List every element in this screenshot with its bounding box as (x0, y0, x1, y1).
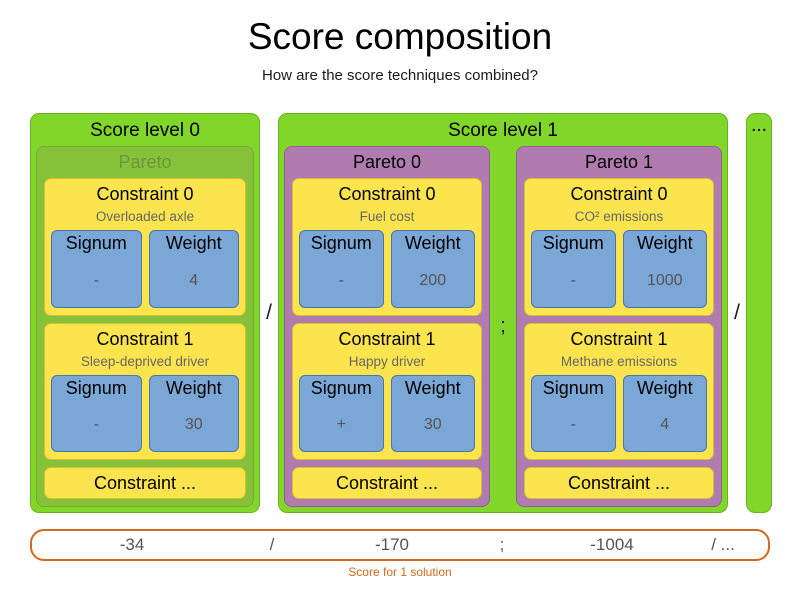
constraint-attributes: Signum - Weight 1000 (531, 230, 707, 308)
score-value-pareto1: -1004 (532, 535, 692, 555)
constraint-more-stub[interactable]: Constraint ... (44, 467, 246, 499)
score-value-pareto0: -170 (312, 535, 472, 555)
constraint-more-stub[interactable]: Constraint ... (524, 467, 714, 499)
pareto-group-level0-title: Pareto (44, 149, 246, 178)
weight-value: 4 (660, 400, 669, 452)
weight-box[interactable]: Weight 30 (391, 375, 476, 453)
signum-box[interactable]: Signum - (51, 375, 142, 453)
signum-box[interactable]: Signum + (299, 375, 384, 453)
weight-value: 30 (185, 400, 203, 452)
signum-box[interactable]: Signum - (51, 230, 142, 308)
weight-label: Weight (637, 376, 693, 400)
signum-label: Signum (543, 376, 604, 400)
more-score-levels-panel[interactable]: ... (746, 113, 772, 513)
weight-box[interactable]: Weight 1000 (623, 230, 708, 308)
score-bar[interactable]: -34 / -170 ; -1004 / ... (30, 529, 770, 561)
constraint-attributes: Signum + Weight 30 (299, 375, 475, 453)
score-trailing: / ... (692, 535, 768, 555)
weight-label: Weight (166, 231, 222, 255)
separator-level0-level1: / (260, 113, 278, 513)
weight-label: Weight (166, 376, 222, 400)
constraint-card[interactable]: Constraint 1 Methane emissions Signum - … (524, 323, 714, 461)
signum-value: - (94, 400, 99, 452)
constraint-card[interactable]: Constraint 1 Sleep-deprived driver Signu… (44, 323, 246, 461)
score-level-0-title: Score level 0 (36, 118, 254, 146)
weight-value: 30 (424, 400, 442, 452)
pareto-group-1-title: Pareto 1 (524, 149, 714, 178)
weight-box[interactable]: Weight 4 (149, 230, 240, 308)
constraint-more-stub[interactable]: Constraint ... (292, 467, 482, 499)
score-level-0-body: Pareto Constraint 0 Overloaded axle Sign… (36, 146, 254, 507)
weight-label: Weight (405, 376, 461, 400)
separator-level1-more: / (728, 113, 746, 513)
constraint-attributes: Signum - Weight 4 (51, 230, 239, 308)
constraint-attributes: Signum - Weight 200 (299, 230, 475, 308)
constraint-description: Methane emissions (561, 352, 677, 375)
weight-box[interactable]: Weight 30 (149, 375, 240, 453)
pareto-group-1[interactable]: Pareto 1 Constraint 0 CO² emissions Sign… (516, 146, 722, 507)
constraint-card[interactable]: Constraint 0 Fuel cost Signum - Weight 2… (292, 178, 482, 316)
constraint-description: Overloaded axle (96, 207, 194, 230)
constraint-description: Fuel cost (360, 207, 415, 230)
constraint-title: Constraint 0 (570, 182, 667, 207)
weight-value: 4 (189, 255, 198, 307)
weight-value: 1000 (647, 255, 683, 307)
signum-value: - (571, 255, 576, 307)
page-subtitle: How are the score techniques combined? (0, 66, 800, 86)
weight-label: Weight (405, 231, 461, 255)
page-title: Score composition (0, 14, 800, 60)
signum-value: + (337, 400, 346, 452)
score-summary: -34 / -170 ; -1004 / ... Score for 1 sol… (30, 529, 770, 580)
signum-label: Signum (311, 231, 372, 255)
signum-label: Signum (66, 376, 127, 400)
weight-box[interactable]: Weight 4 (623, 375, 708, 453)
constraint-title: Constraint 0 (338, 182, 435, 207)
score-level-0-panel[interactable]: Score level 0 Pareto Constraint 0 Overlo… (30, 113, 260, 513)
constraint-description: Sleep-deprived driver (81, 352, 209, 375)
constraint-attributes: Signum - Weight 4 (531, 375, 707, 453)
signum-value: - (94, 255, 99, 307)
score-caption: Score for 1 solution (30, 561, 770, 580)
constraint-card[interactable]: Constraint 1 Happy driver Signum + Weigh… (292, 323, 482, 461)
signum-label: Signum (543, 231, 604, 255)
more-levels-label: ... (751, 115, 767, 137)
score-level-1-body: Pareto 0 Constraint 0 Fuel cost Signum -… (284, 146, 722, 507)
score-composition-diagram: Score level 0 Pareto Constraint 0 Overlo… (0, 113, 800, 513)
constraint-title: Constraint 1 (338, 327, 435, 352)
constraint-description: Happy driver (349, 352, 426, 375)
score-operator-0: / (232, 535, 312, 555)
pareto-group-0-title: Pareto 0 (292, 149, 482, 178)
constraint-card[interactable]: Constraint 0 Overloaded axle Signum - We… (44, 178, 246, 316)
signum-value: - (339, 255, 344, 307)
constraint-description: CO² emissions (575, 207, 664, 230)
signum-value: - (571, 400, 576, 452)
pareto-group-0-constraints: Constraint 0 Fuel cost Signum - Weight 2… (292, 178, 482, 499)
signum-label: Signum (311, 376, 372, 400)
pareto-group-0[interactable]: Pareto 0 Constraint 0 Fuel cost Signum -… (284, 146, 490, 507)
constraint-card[interactable]: Constraint 0 CO² emissions Signum - Weig… (524, 178, 714, 316)
score-value-level0: -34 (32, 535, 232, 555)
score-level-1-title: Score level 1 (284, 118, 722, 146)
constraint-title: Constraint 0 (96, 182, 193, 207)
constraint-title: Constraint 1 (570, 327, 667, 352)
page-header: Score composition How are the score tech… (0, 0, 800, 86)
signum-label: Signum (66, 231, 127, 255)
pareto-group-level0[interactable]: Pareto Constraint 0 Overloaded axle Sign… (36, 146, 254, 507)
signum-box[interactable]: Signum - (299, 230, 384, 308)
signum-box[interactable]: Signum - (531, 230, 616, 308)
signum-box[interactable]: Signum - (531, 375, 616, 453)
separator-pareto0-pareto1: ; (498, 146, 508, 507)
constraint-attributes: Signum - Weight 30 (51, 375, 239, 453)
weight-value: 200 (419, 255, 446, 307)
score-level-1-panel[interactable]: Score level 1 Pareto 0 Constraint 0 Fuel… (278, 113, 728, 513)
weight-label: Weight (637, 231, 693, 255)
pareto-group-level0-constraints: Constraint 0 Overloaded axle Signum - We… (44, 178, 246, 499)
weight-box[interactable]: Weight 200 (391, 230, 476, 308)
score-operator-1: ; (472, 535, 532, 555)
pareto-group-1-constraints: Constraint 0 CO² emissions Signum - Weig… (524, 178, 714, 499)
constraint-title: Constraint 1 (96, 327, 193, 352)
